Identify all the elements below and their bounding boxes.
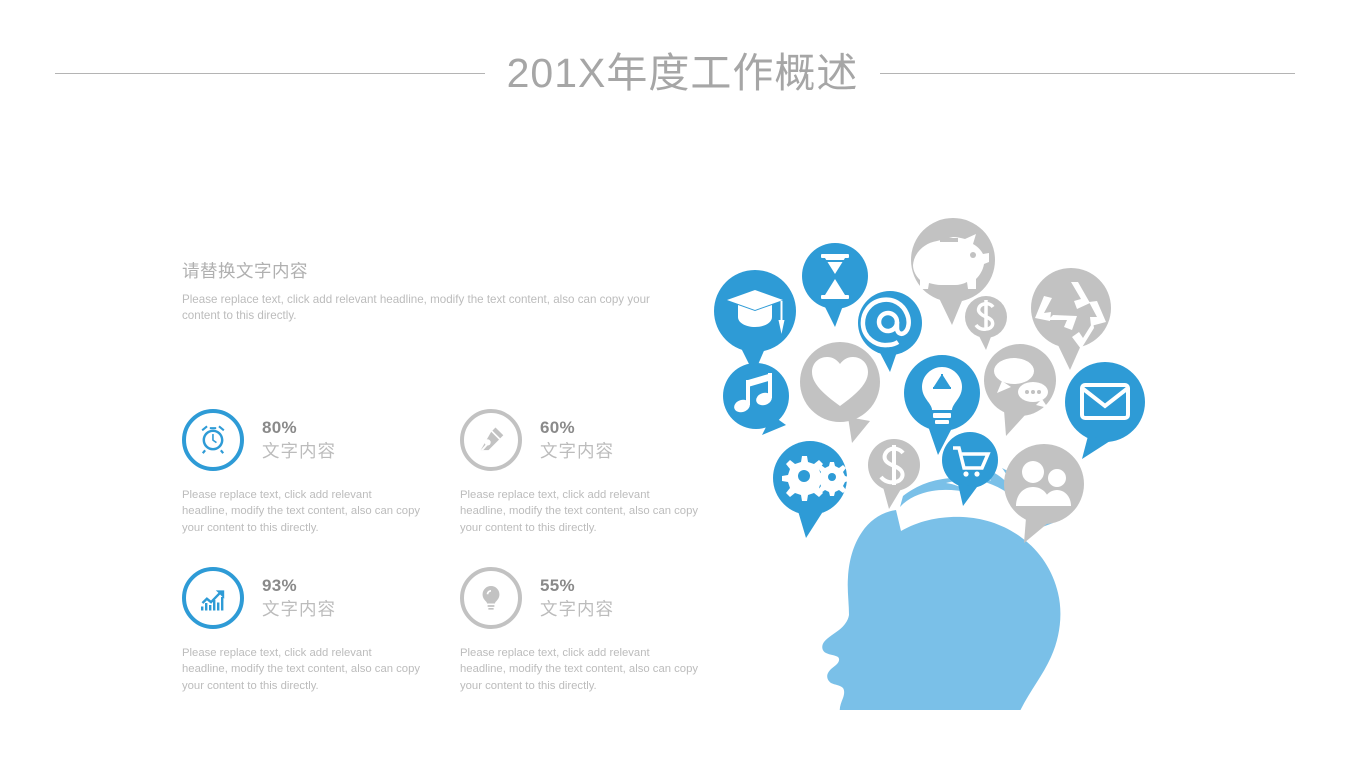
stat-header-1: 80% 文字内容 [182, 405, 460, 475]
stat-text-1: 80% 文字内容 [262, 418, 336, 462]
title-divider-right [880, 73, 1295, 74]
bubble-gears-icon [773, 441, 849, 538]
page-title: 201X年度工作概述 [507, 53, 859, 94]
slide-title-bar: 201X年度工作概述 [0, 38, 1350, 108]
stat-card-2[interactable]: 60% 文字内容 Please replace text, click add … [460, 405, 738, 563]
bubble-graduation-cap-icon [714, 270, 796, 374]
bubble-hourglass-icon [802, 243, 868, 327]
pen-nib-icon [475, 424, 507, 456]
stat-description-4: Please replace text, click add relevant … [460, 645, 698, 694]
intro-heading: 请替换文字内容 [182, 258, 722, 283]
stat-header-3: 93% 文字内容 [182, 563, 460, 633]
lightbulb-icon [476, 583, 506, 613]
stats-grid: 80% 文字内容 Please replace text, click add … [182, 405, 742, 721]
stat-description-3: Please replace text, click add relevant … [182, 645, 420, 694]
stat-icon-circle-3 [182, 567, 244, 629]
stat-card-3[interactable]: 93% 文字内容 Please replace text, click add … [182, 563, 460, 721]
stat-label-3: 文字内容 [262, 599, 336, 620]
stat-text-3: 93% 文字内容 [262, 576, 336, 620]
intro-paragraph: Please replace text, click add relevant … [182, 292, 662, 325]
head-with-idea-bubbles-illustration [700, 210, 1180, 710]
stat-icon-circle-4 [460, 567, 522, 629]
stat-card-1[interactable]: 80% 文字内容 Please replace text, click add … [182, 405, 460, 563]
stat-label-2: 文字内容 [540, 441, 614, 462]
stat-percent-3: 93% [262, 576, 336, 596]
growth-chart-icon [197, 582, 229, 614]
bubble-heart-icon [800, 342, 880, 443]
bubble-dollar-sign-icon-1 [965, 296, 1007, 350]
stat-icon-circle-1 [182, 409, 244, 471]
bubble-envelope-icon [1065, 362, 1145, 459]
stat-text-2: 60% 文字内容 [540, 418, 614, 462]
title-divider-left [55, 73, 485, 74]
stat-description-1: Please replace text, click add relevant … [182, 487, 420, 536]
stat-percent-2: 60% [540, 418, 614, 438]
stat-description-2: Please replace text, click add relevant … [460, 487, 698, 536]
alarm-clock-icon [196, 423, 230, 457]
stat-percent-1: 80% [262, 418, 336, 438]
stat-text-4: 55% 文字内容 [540, 576, 614, 620]
intro-block: 请替换文字内容 Please replace text, click add r… [182, 258, 722, 325]
bubble-chat-bubbles-icon [984, 344, 1056, 436]
stat-icon-circle-2 [460, 409, 522, 471]
stat-card-4[interactable]: 55% 文字内容 Please replace text, click add … [460, 563, 738, 721]
bubble-shopping-cart-icon [942, 432, 998, 506]
stat-header-2: 60% 文字内容 [460, 405, 738, 475]
stat-header-4: 55% 文字内容 [460, 563, 738, 633]
bubble-dollar-sign-icon-2 [868, 439, 920, 509]
stat-label-1: 文字内容 [262, 441, 336, 462]
stat-percent-4: 55% [540, 576, 614, 596]
stat-label-4: 文字内容 [540, 599, 614, 620]
bubble-music-note-icon [723, 363, 789, 435]
bubble-users-group-icon [1004, 444, 1084, 543]
